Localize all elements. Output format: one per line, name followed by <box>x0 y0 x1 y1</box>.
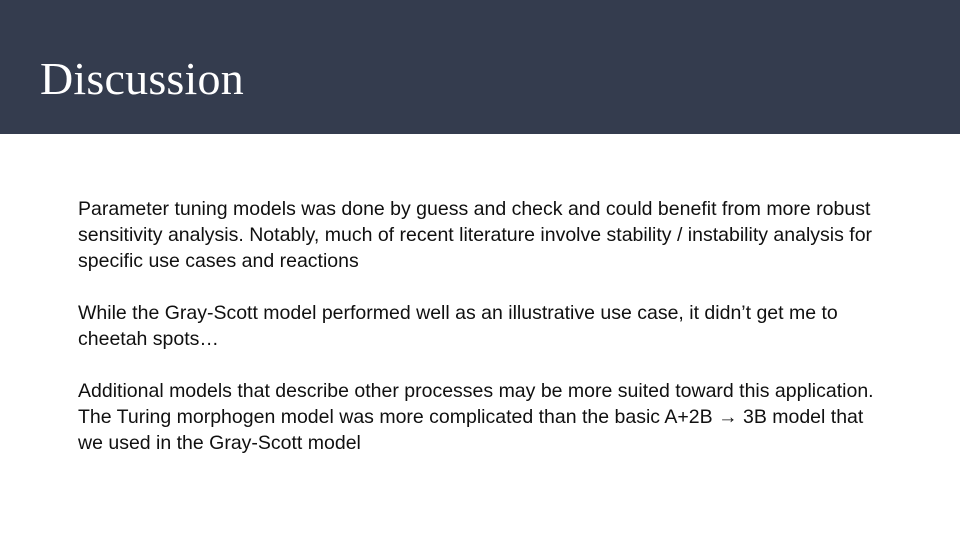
slide-canvas: Discussion Parameter tuning models was d… <box>0 0 960 540</box>
body-content: Parameter tuning models was done by gues… <box>78 196 878 456</box>
body-paragraph-3: Additional models that describe other pr… <box>78 378 878 456</box>
body-paragraph-2: While the Gray-Scott model performed wel… <box>78 300 878 352</box>
page-title: Discussion <box>40 52 244 106</box>
body-paragraph-1: Parameter tuning models was done by gues… <box>78 196 878 274</box>
